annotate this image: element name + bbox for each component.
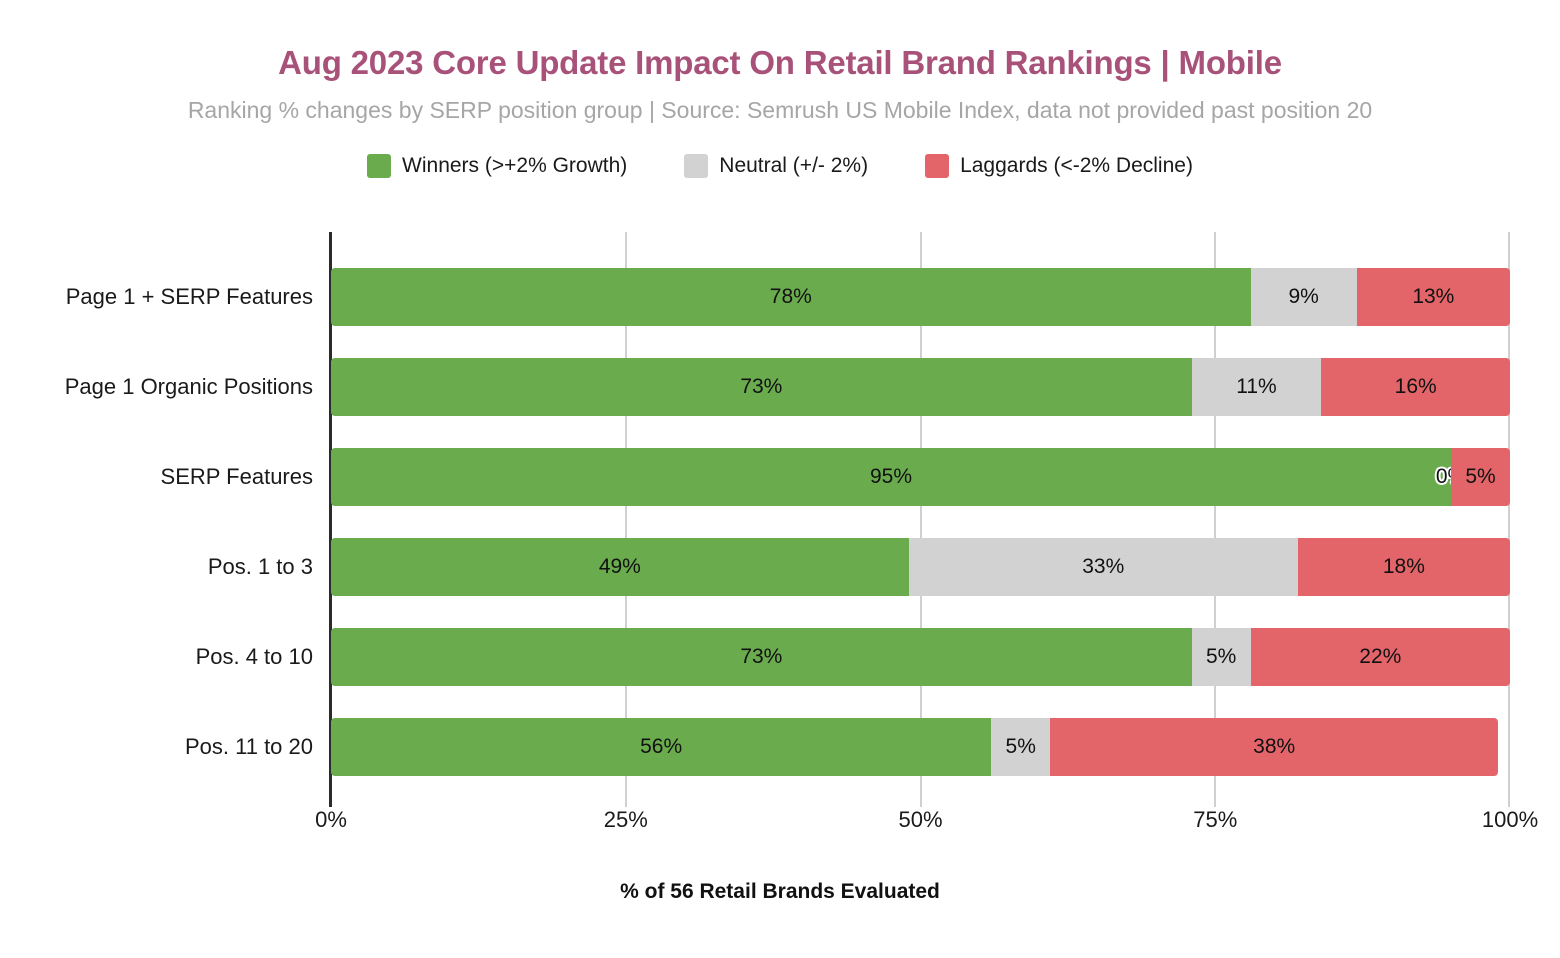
legend-item-laggards[interactable]: Laggards (<-2% Decline): [925, 154, 1193, 178]
bar-value-label: 5%: [1465, 465, 1495, 489]
legend-item-neutral[interactable]: Neutral (+/- 2%): [684, 154, 868, 178]
x-axis-tick-label: 50%: [898, 807, 942, 833]
bar-segment-winners[interactable]: 95%: [331, 448, 1451, 506]
bar-segment-laggards[interactable]: 5%: [1451, 448, 1510, 506]
bar-segment-neutral[interactable]: 11%: [1192, 358, 1322, 416]
bar-row[interactable]: 56%5%38%: [331, 718, 1510, 776]
bar-segment-winners[interactable]: 73%: [331, 358, 1192, 416]
bar-segment-laggards[interactable]: 13%: [1357, 268, 1510, 326]
legend-item-winners[interactable]: Winners (>+2% Growth): [367, 154, 627, 178]
plot-area: 78%9%13%73%11%16%95%0%5%49%33%18%73%5%22…: [331, 232, 1510, 807]
bar-row[interactable]: 73%11%16%: [331, 358, 1510, 416]
bar-segment-winners[interactable]: 56%: [331, 718, 991, 776]
legend-swatch-winners-icon: [367, 154, 391, 178]
bar-value-label: 49%: [599, 555, 641, 579]
x-axis-tick-label: 0%: [315, 807, 347, 833]
legend-swatch-laggards-icon: [925, 154, 949, 178]
bar-value-label: 22%: [1359, 645, 1401, 669]
bar-value-label: 78%: [770, 285, 812, 309]
chart-legend: Winners (>+2% Growth) Neutral (+/- 2%) L…: [0, 154, 1560, 178]
bar-segment-laggards[interactable]: 22%: [1251, 628, 1510, 686]
bar-segment-neutral[interactable]: 33%: [909, 538, 1298, 596]
bar-value-label: 5%: [1006, 735, 1036, 759]
plot-wrapper: 78%9%13%73%11%16%95%0%5%49%33%18%73%5%22…: [0, 232, 1560, 812]
x-axis-title: % of 56 Retail Brands Evaluated: [0, 880, 1560, 904]
bar-value-label: 11%: [1236, 375, 1276, 399]
bar-segment-neutral[interactable]: 9%: [1251, 268, 1357, 326]
bar-row[interactable]: 49%33%18%: [331, 538, 1510, 596]
bar-segment-neutral[interactable]: 5%: [991, 718, 1050, 776]
bar-segment-winners[interactable]: 49%: [331, 538, 909, 596]
legend-label-winners: Winners (>+2% Growth): [402, 154, 627, 178]
bar-value-label: 16%: [1395, 375, 1437, 399]
x-axis-tick-label: 25%: [604, 807, 648, 833]
bar-segment-neutral[interactable]: 5%: [1192, 628, 1251, 686]
x-axis-tick-label: 100%: [1482, 807, 1538, 833]
legend-label-laggards: Laggards (<-2% Decline): [960, 154, 1193, 178]
bar-value-label: 95%: [870, 465, 912, 489]
bar-segment-winners[interactable]: 78%: [331, 268, 1251, 326]
bar-value-label: 38%: [1253, 735, 1295, 759]
legend-label-neutral: Neutral (+/- 2%): [719, 154, 868, 178]
bar-value-label: 56%: [640, 735, 682, 759]
bar-segment-laggards[interactable]: 18%: [1298, 538, 1510, 596]
x-axis-ticks: 0%25%50%75%100%: [331, 807, 1510, 857]
bar-value-label: 5%: [1206, 645, 1236, 669]
bar-value-label: 33%: [1082, 555, 1124, 579]
chart-header: Aug 2023 Core Update Impact On Retail Br…: [0, 0, 1560, 125]
bar-segment-winners[interactable]: 73%: [331, 628, 1192, 686]
legend-swatch-neutral-icon: [684, 154, 708, 178]
bar-value-label: 73%: [740, 375, 782, 399]
bar-value-label: 73%: [740, 645, 782, 669]
bar-value-label: 18%: [1383, 555, 1425, 579]
x-axis-tick-label: 75%: [1193, 807, 1237, 833]
bar-value-label: 9%: [1288, 285, 1318, 309]
chart-subtitle: Ranking % changes by SERP position group…: [0, 97, 1560, 125]
bar-row[interactable]: 78%9%13%: [331, 268, 1510, 326]
bar-row[interactable]: 95%0%5%: [331, 448, 1510, 506]
bar-row[interactable]: 73%5%22%: [331, 628, 1510, 686]
bar-segment-laggards[interactable]: 38%: [1050, 718, 1498, 776]
bar-value-label: 13%: [1412, 285, 1454, 309]
bar-segment-laggards[interactable]: 16%: [1321, 358, 1510, 416]
page-title: Aug 2023 Core Update Impact On Retail Br…: [0, 44, 1560, 82]
